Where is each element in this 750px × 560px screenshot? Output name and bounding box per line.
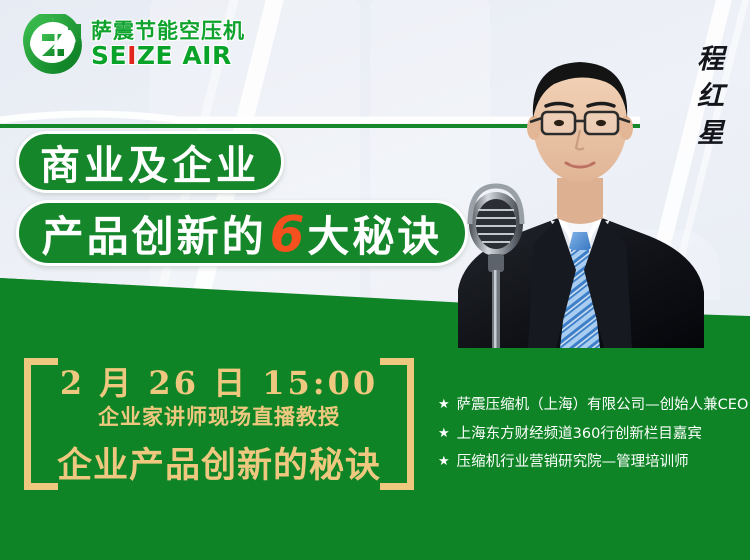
speaker-name-vertical: 程 红 星 xyxy=(697,46,724,147)
headline-line2-after: 大秘诀 xyxy=(307,212,442,261)
promotional-poster: 萨震节能空压机 SEIZE AIR 商业及企业 产品创新的6大秘诀 程 红 星 … xyxy=(0,0,750,560)
speaker-name-char-3: 星 xyxy=(697,120,724,147)
credential-item: ★ 萨震压缩机（上海）有限公司—创始人兼CEO xyxy=(438,398,738,413)
headline-pill-secondary: 产品创新的6大秘诀 xyxy=(16,200,468,266)
headline-line2-before: 产品创新的 xyxy=(42,212,267,261)
logo-company-cn: 萨震节能空压机 xyxy=(91,20,245,42)
star-icon: ★ xyxy=(438,398,450,412)
brand-logo: 萨震节能空压机 SEIZE AIR xyxy=(22,14,245,76)
headline-number: 6 xyxy=(267,205,308,263)
star-icon: ★ xyxy=(438,455,450,469)
speaker-portrait xyxy=(430,18,730,348)
event-subtitle: 企业家讲师现场直播教授 xyxy=(24,401,414,431)
event-topic: 企业产品创新的秘诀 xyxy=(24,437,414,488)
headline-line2: 产品创新的6大秘诀 xyxy=(42,203,443,264)
credential-text: 压缩机行业营销研究院—管理培训师 xyxy=(457,455,689,470)
event-datetime: 2 月 26 日 15:00 xyxy=(24,358,414,404)
credential-text: 萨震压缩机（上海）有限公司—创始人兼CEO xyxy=(457,398,749,413)
star-icon: ★ xyxy=(438,427,450,441)
event-details-block: 2 月 26 日 15:00 企业家讲师现场直播教授 企业产品创新的秘诀 xyxy=(24,352,414,500)
credential-item: ★ 压缩机行业营销研究院—管理培训师 xyxy=(438,455,738,470)
logo-en-part1: SE xyxy=(91,41,127,70)
logo-company-en: SEIZE AIR xyxy=(91,43,245,69)
headline-line1: 商业及企业 xyxy=(40,133,260,191)
headline-pill-primary: 商业及企业 xyxy=(16,131,284,193)
credentials-list: ★ 萨震压缩机（上海）有限公司—创始人兼CEO ★ 上海东方财经频道360行创新… xyxy=(438,398,738,484)
logo-en-part3: ZE AIR xyxy=(137,41,232,70)
credential-item: ★ 上海东方财经频道360行创新栏目嘉宾 xyxy=(438,427,738,442)
speaker-name-char-1: 程 xyxy=(697,46,724,73)
logo-en-part2: I xyxy=(127,41,137,70)
sz-monogram-icon xyxy=(22,14,84,76)
credential-text: 上海东方财经频道360行创新栏目嘉宾 xyxy=(457,427,702,442)
speaker-name-char-2: 红 xyxy=(697,83,724,110)
